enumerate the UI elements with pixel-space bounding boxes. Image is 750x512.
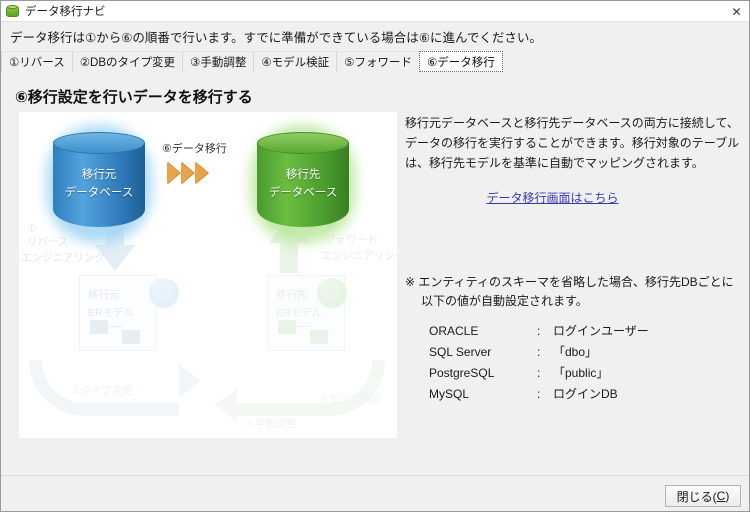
wizard-tabs: ①リバース ②DBのタイプ変更 ③手動調整 ④モデル検証 ⑤フォワード ⑥データ… (1, 50, 750, 72)
badge-source-step: ② (149, 278, 179, 308)
close-button-accel: C (717, 489, 726, 503)
close-icon[interactable]: ✕ (722, 1, 750, 22)
source-er-model-label-1: 移行元 (88, 288, 120, 303)
reverse-label-1: ① (27, 222, 36, 236)
migration-arrow-label: ⑥データ移行 (162, 140, 227, 156)
manual-adjust-arrowhead-icon (215, 388, 237, 422)
page-title: ⑥移行設定を行いデータを移行する (15, 86, 253, 107)
db-name: SQL Server (429, 342, 537, 363)
title-bar: データ移行ナビ ✕ (1, 1, 750, 22)
link-row: データ移行画面はこちら (405, 189, 740, 207)
target-database-cylinder: 移行先 データベース (257, 132, 349, 236)
db-value: ログインユーザー (553, 321, 649, 342)
tab-forward[interactable]: ⑤フォワード (336, 51, 420, 72)
db-value: 「dbo」 (553, 342, 649, 363)
tab-manual-adjust[interactable]: ③手動調整 (182, 51, 254, 72)
reverse-label-2: リバース (27, 235, 68, 249)
db-name: ORACLE (429, 321, 537, 342)
source-database-label-2: データベース (53, 184, 145, 202)
source-database-label-1: 移行元 (53, 166, 145, 184)
source-er-model-card: 移行元 ERモデル (79, 275, 157, 351)
close-button[interactable]: 閉じる(C) (665, 485, 741, 507)
reverse-label-3: エンジニアリング (21, 251, 105, 265)
db-colon: : (537, 321, 553, 342)
instruction-text: データ移行は①から⑥の順番で行います。すでに準備ができている場合は⑥に進んでくだ… (10, 27, 740, 46)
tabstrip-filler (502, 51, 750, 72)
db-colon: : (537, 384, 553, 405)
migration-wizard-window: データ移行ナビ ✕ データ移行は①から⑥の順番で行います。すでに準備ができている… (0, 0, 750, 512)
source-er-model-label-2: ERモデル (88, 306, 134, 321)
target-database-label-1: 移行先 (257, 166, 349, 184)
type-change-curve-icon (29, 360, 179, 416)
forward-label-3: エンジニアリング (321, 249, 397, 263)
schema-note-text: ※ エンティティのスキーマを省略した場合、移行先DBごとに以下の値が自動設定され… (405, 273, 740, 311)
table-row: PostgreSQL : 「public」 (429, 363, 649, 384)
db-colon: : (537, 342, 553, 363)
default-schema-table: ORACLE : ログインユーザー SQL Server : 「dbo」 Pos… (429, 321, 649, 405)
tab-reverse[interactable]: ①リバース (1, 51, 73, 72)
data-migration-screen-link[interactable]: データ移行画面はこちら (486, 191, 618, 205)
description-text: 移行元データベースと移行先データベースの両方に接続して、データの移行を実行するこ… (405, 113, 740, 173)
db-name: MySQL (429, 384, 537, 405)
db-value: 「public」 (553, 363, 649, 384)
source-database-cylinder: 移行元 データベース (53, 132, 145, 236)
badge-target-step-label: ④ (317, 278, 347, 308)
db-colon: : (537, 363, 553, 384)
badge-source-step-label: ② (149, 278, 179, 308)
window-title: データ移行ナビ (25, 3, 106, 19)
model-verify-curve-icon (235, 360, 385, 416)
close-button-label: 閉じる( (677, 488, 717, 505)
schema-note: ※ エンティティのスキーマを省略した場合、移行先DBごとに以下の値が自動設定され… (405, 273, 740, 405)
close-button-tail: ) (725, 489, 729, 503)
type-change-arrowhead-icon (179, 364, 201, 398)
database-icon (5, 3, 21, 19)
target-er-model-label-2: ERモデル (276, 306, 322, 321)
migration-chevrons-icon (167, 162, 208, 184)
footer-divider (1, 475, 750, 476)
tab-model-verify[interactable]: ④モデル検証 (253, 51, 337, 72)
table-row: ORACLE : ログインユーザー (429, 321, 649, 342)
info-panel: 移行元データベースと移行先データベースの両方に接続して、データの移行を実行するこ… (405, 113, 740, 207)
migration-diagram: ① リバース エンジニアリング ⑤ フォワード エンジニアリング 移行元 ERモ… (19, 112, 397, 438)
target-er-model-label-1: 移行先 (276, 288, 308, 303)
table-row: SQL Server : 「dbo」 (429, 342, 649, 363)
db-value: ログインDB (553, 384, 649, 405)
badge-target-step: ④ (317, 278, 347, 308)
tab-data-migration[interactable]: ⑥データ移行 (419, 51, 503, 72)
window-buttons: ✕ (722, 1, 750, 22)
table-row: MySQL : ログインDB (429, 384, 649, 405)
target-database-label-2: データベース (257, 184, 349, 202)
manual-adjust-label: ③手動調整 (245, 417, 296, 431)
db-name: PostgreSQL (429, 363, 537, 384)
tab-db-type-change[interactable]: ②DBのタイプ変更 (72, 51, 183, 72)
